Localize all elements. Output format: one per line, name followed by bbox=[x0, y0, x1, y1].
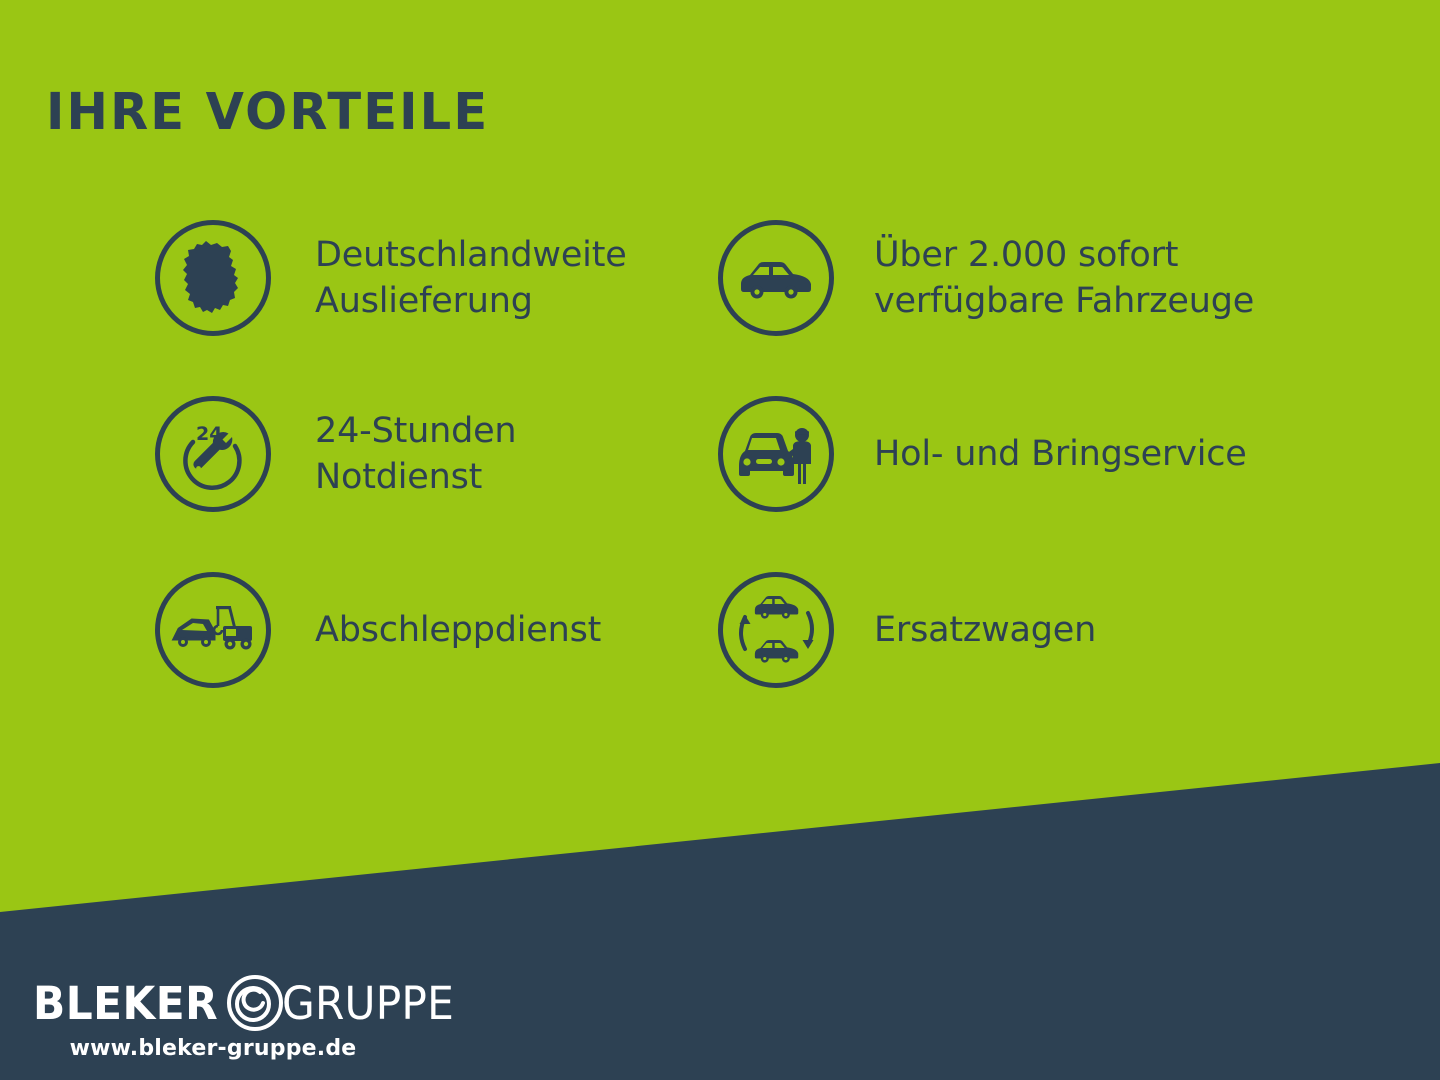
benefit-label: Deutschlandweite Auslieferung bbox=[315, 232, 627, 324]
benefit-label: Über 2.000 sofort verfügbare Fahrzeuge bbox=[874, 232, 1254, 324]
logo-wordmark: BLEKER GRUPPE bbox=[33, 975, 453, 1031]
benefit-label: Hol- und Bringservice bbox=[874, 431, 1247, 477]
page-title: IHRE VORTEILE bbox=[46, 87, 489, 138]
benefit-item-abschleppdienst[interactable]: Abschleppdienst bbox=[155, 572, 601, 688]
benefit-item-verfuegbare-fahrzeuge[interactable]: Über 2.000 sofort verfügbare Fahrzeuge bbox=[718, 220, 1254, 336]
benefit-label: Abschleppdienst bbox=[315, 607, 601, 653]
green-background-wedge bbox=[0, 0, 1440, 1080]
germany-map-icon bbox=[155, 220, 271, 336]
benefit-label: Ersatzwagen bbox=[874, 607, 1096, 653]
slide-canvas: IHRE VORTEILE Deutschlandweite Ausliefer… bbox=[0, 0, 1440, 1080]
logo-website-url[interactable]: www.bleker-gruppe.de bbox=[33, 1036, 393, 1061]
benefit-item-24-stunden-notdienst[interactable]: 24 24-Stunden Notdienst bbox=[155, 396, 516, 512]
logo-name-light: GRUPPE bbox=[282, 981, 454, 1026]
car-with-driver-icon bbox=[718, 396, 834, 512]
spiral-circle-mark bbox=[224, 972, 286, 1034]
company-logo[interactable]: BLEKER GRUPPE www.bleker-gruppe.de bbox=[33, 975, 453, 1061]
benefit-item-hol-und-bringservice[interactable]: Hol- und Bringservice bbox=[718, 396, 1247, 512]
benefit-item-deutschlandweite-auslieferung[interactable]: Deutschlandweite Auslieferung bbox=[155, 220, 627, 336]
logo-name-bold: BLEKER bbox=[33, 981, 218, 1026]
24-hour-wrench-icon: 24 bbox=[155, 396, 271, 512]
benefit-label: 24-Stunden Notdienst bbox=[315, 408, 516, 500]
benefit-item-ersatzwagen[interactable]: Ersatzwagen bbox=[718, 572, 1096, 688]
car-exchange-icon bbox=[718, 572, 834, 688]
car-side-icon bbox=[718, 220, 834, 336]
tow-truck-icon bbox=[155, 572, 271, 688]
